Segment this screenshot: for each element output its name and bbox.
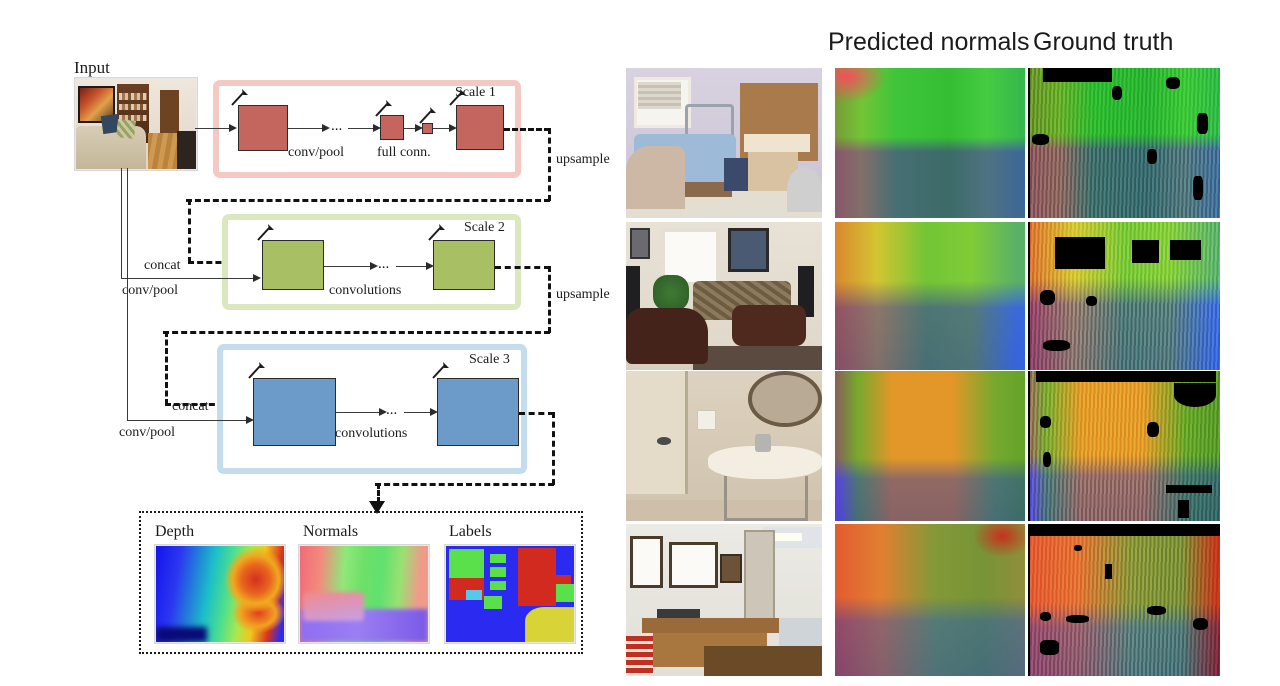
header-ground-truth: Ground truth bbox=[1033, 28, 1173, 57]
output-normals-label: Normals bbox=[303, 523, 358, 541]
ground-truth-row-2 bbox=[1028, 222, 1220, 370]
predicted-normals-row-4 bbox=[835, 524, 1025, 676]
scale2-block-1 bbox=[262, 240, 324, 290]
predicted-normals-row-2 bbox=[835, 222, 1025, 370]
input-tap-2-v bbox=[127, 168, 128, 421]
scale2-arrowhead-1 bbox=[370, 262, 378, 270]
scale3-out-dash-h bbox=[519, 412, 554, 415]
predicted-normals-row-3 bbox=[835, 371, 1025, 521]
scale1-block-2-tick-icon bbox=[374, 99, 398, 119]
input-tap-2-h bbox=[127, 420, 248, 421]
output-labels-thumbnail bbox=[445, 545, 575, 643]
scale1-block-1-tick-icon bbox=[230, 88, 254, 108]
scale2-out-dash-h bbox=[495, 266, 550, 269]
scale3-arrow-2 bbox=[404, 412, 432, 413]
output-depth-thumbnail bbox=[155, 545, 285, 643]
rgb-input-row-2 bbox=[626, 222, 822, 370]
scale2-block-1-tick-icon bbox=[256, 223, 280, 243]
input-tap-1-h bbox=[121, 278, 255, 279]
scale3-block-2-tick-icon bbox=[431, 361, 455, 381]
scale2-arrow-2 bbox=[396, 266, 428, 267]
input-tap-1-v bbox=[121, 168, 122, 279]
scale3-ellipsis: ... bbox=[386, 402, 397, 419]
scale3-arrow-1 bbox=[336, 412, 381, 413]
scale1-convpool-label: conv/pool bbox=[288, 145, 344, 161]
upsample-label-1: upsample bbox=[556, 152, 610, 168]
output-dash-v bbox=[377, 483, 380, 503]
scale-2-label: Scale 2 bbox=[464, 220, 505, 236]
output-depth-label: Depth bbox=[155, 523, 194, 541]
scale1-block-3-tick-icon bbox=[418, 106, 442, 126]
scale2-convpool-arrowhead bbox=[253, 274, 261, 282]
scale1-out-dash-h bbox=[504, 128, 550, 131]
ground-truth-row-4 bbox=[1028, 524, 1220, 676]
rgb-input-row-3 bbox=[626, 371, 822, 521]
scale2-block-2 bbox=[433, 240, 495, 290]
upsample1-dash-h bbox=[186, 199, 550, 202]
scale3-block-1 bbox=[253, 378, 336, 446]
scale3-convpool-label: conv/pool bbox=[119, 425, 175, 441]
upsample-label-2: upsample bbox=[556, 287, 610, 303]
scale2-block-2-tick-icon bbox=[427, 223, 451, 243]
scale3-block-2 bbox=[437, 378, 519, 446]
scale1-ellipsis: ... bbox=[331, 118, 342, 135]
scale1-input-line-h bbox=[195, 128, 230, 129]
scale2-out-dash-v bbox=[548, 266, 551, 333]
figure-root: Input Scale 1 ... bbox=[0, 0, 1280, 686]
scale1-block-1 bbox=[238, 105, 288, 151]
scale1-out-dash-v bbox=[548, 128, 551, 201]
header-predicted-normals: Predicted normals bbox=[828, 28, 1029, 57]
scale1-fullconn-label: full conn. bbox=[377, 145, 431, 161]
scale2-arrow-1 bbox=[324, 266, 372, 267]
upsample1-dash-v2 bbox=[188, 199, 191, 263]
scale2-concat-label: concat bbox=[144, 258, 181, 274]
scale3-convpool-arrowhead bbox=[246, 416, 254, 424]
output-dash-h bbox=[375, 483, 554, 486]
scale1-input-arrow bbox=[229, 124, 237, 132]
output-labels-label: Labels bbox=[449, 523, 492, 541]
scale2-ellipsis: ... bbox=[378, 256, 389, 273]
scale3-block-1-tick-icon bbox=[247, 361, 271, 381]
ground-truth-row-3 bbox=[1028, 371, 1220, 521]
predicted-normals-row-1 bbox=[835, 68, 1025, 218]
scale1-arrow-2 bbox=[348, 128, 375, 129]
scale3-convolutions-label: convolutions bbox=[335, 426, 407, 442]
input-thumbnail bbox=[75, 78, 197, 170]
upsample2-dash-v bbox=[165, 331, 168, 405]
rgb-input-row-4 bbox=[626, 524, 822, 676]
ground-truth-row-1 bbox=[1028, 68, 1220, 218]
scale1-arrow-1 bbox=[288, 128, 324, 129]
scale1-block-4 bbox=[456, 105, 504, 150]
scale3-concat-label: concat bbox=[172, 399, 209, 415]
scale2-convpool-label: conv/pool bbox=[122, 283, 178, 299]
scale2-convolutions-label: convolutions bbox=[329, 283, 401, 299]
input-label: Input bbox=[74, 58, 110, 78]
scale-3-label: Scale 3 bbox=[469, 352, 510, 368]
scale3-out-dash-v bbox=[552, 412, 555, 485]
rgb-input-row-1 bbox=[626, 68, 822, 218]
scale1-block-4-tick-icon bbox=[448, 88, 472, 108]
output-normals-thumbnail bbox=[299, 545, 429, 643]
upsample2-dash-h bbox=[163, 331, 550, 334]
scale1-arrowhead-1 bbox=[322, 124, 330, 132]
